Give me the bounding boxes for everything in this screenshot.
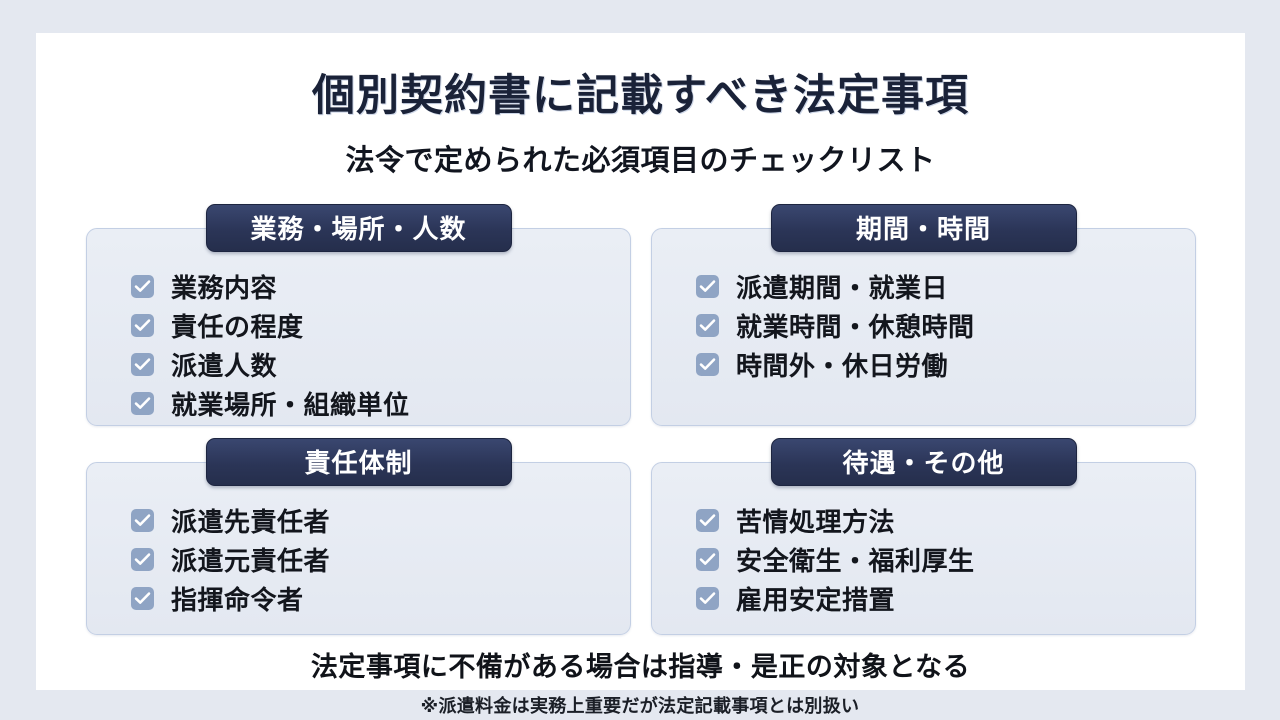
page-subtitle: 法令で定められた必須項目のチェックリスト <box>36 137 1245 179</box>
list-item[interactable]: 就業時間・休憩時間 <box>696 306 1177 345</box>
checklist-card-work-place-count: 業務・場所・人数 業務内容 責任の程度 <box>86 228 631 426</box>
check-icon[interactable] <box>131 275 154 298</box>
checklist-items: 派遣期間・就業日 就業時間・休憩時間 時間外・休日労働 <box>696 267 1177 384</box>
check-icon[interactable] <box>696 275 719 298</box>
check-icon[interactable] <box>696 548 719 571</box>
list-item-label: 派遣人数 <box>171 346 277 383</box>
page-title: 個別契約書に記載すべき法定事項 <box>36 61 1245 123</box>
list-item-label: 就業場所・組織単位 <box>171 385 410 422</box>
list-item[interactable]: 派遣期間・就業日 <box>696 267 1177 306</box>
check-icon[interactable] <box>696 353 719 376</box>
check-icon[interactable] <box>696 314 719 337</box>
list-item[interactable]: 就業場所・組織単位 <box>131 384 612 423</box>
list-item-label: 派遣先責任者 <box>171 502 330 539</box>
list-item[interactable]: 派遣人数 <box>131 345 612 384</box>
slide-panel: 個別契約書に記載すべき法定事項 法令で定められた必須項目のチェックリスト 業務・… <box>36 33 1245 690</box>
footer-note-text: ※派遣料金は実務上重要だが法定記載事項とは別扱い <box>0 692 1280 718</box>
card-header-label: 業務・場所・人数 <box>206 204 512 252</box>
check-icon[interactable] <box>131 587 154 610</box>
list-item[interactable]: 責任の程度 <box>131 306 612 345</box>
list-item-label: 業務内容 <box>171 268 277 305</box>
list-item[interactable]: 指揮命令者 <box>131 579 612 618</box>
check-icon[interactable] <box>131 314 154 337</box>
list-item-label: 時間外・休日労働 <box>736 346 948 383</box>
checklist-card-treatment-other: 待遇・その他 苦情処理方法 安全衛生・福利厚生 <box>651 462 1196 635</box>
list-item-label: 就業時間・休憩時間 <box>736 307 975 344</box>
check-icon[interactable] <box>131 548 154 571</box>
list-item-label: 派遣期間・就業日 <box>736 268 948 305</box>
list-item-label: 指揮命令者 <box>171 580 304 617</box>
list-item[interactable]: 業務内容 <box>131 267 612 306</box>
check-icon[interactable] <box>131 509 154 532</box>
list-item-label: 雇用安定措置 <box>736 580 895 617</box>
checklist-card-period-time: 期間・時間 派遣期間・就業日 就業時間・休憩時間 <box>651 228 1196 426</box>
card-header-label: 期間・時間 <box>771 204 1077 252</box>
checklist-items: 業務内容 責任の程度 派遣人数 <box>131 267 612 423</box>
list-item-label: 安全衛生・福利厚生 <box>736 541 975 578</box>
list-item-label: 派遣元責任者 <box>171 541 330 578</box>
footer-emphasis-text: 法定事項に不備がある場合は指導・是正の対象となる <box>36 645 1245 684</box>
checklist-card-responsibility: 責任体制 派遣先責任者 派遣元責任者 <box>86 462 631 635</box>
list-item[interactable]: 時間外・休日労働 <box>696 345 1177 384</box>
list-item-label: 苦情処理方法 <box>736 502 895 539</box>
list-item[interactable]: 雇用安定措置 <box>696 579 1177 618</box>
card-header-label: 責任体制 <box>206 438 512 486</box>
list-item[interactable]: 苦情処理方法 <box>696 501 1177 540</box>
check-icon[interactable] <box>131 353 154 376</box>
card-header-label: 待遇・その他 <box>771 438 1077 486</box>
list-item[interactable]: 安全衛生・福利厚生 <box>696 540 1177 579</box>
checklist-items: 派遣先責任者 派遣元責任者 指揮命令者 <box>131 501 612 618</box>
check-icon[interactable] <box>696 587 719 610</box>
check-icon[interactable] <box>696 509 719 532</box>
list-item[interactable]: 派遣先責任者 <box>131 501 612 540</box>
checklist-card-grid: 業務・場所・人数 業務内容 責任の程度 <box>86 203 1196 635</box>
list-item[interactable]: 派遣元責任者 <box>131 540 612 579</box>
checklist-items: 苦情処理方法 安全衛生・福利厚生 雇用安定措置 <box>696 501 1177 618</box>
list-item-label: 責任の程度 <box>171 307 304 344</box>
check-icon[interactable] <box>131 392 154 415</box>
